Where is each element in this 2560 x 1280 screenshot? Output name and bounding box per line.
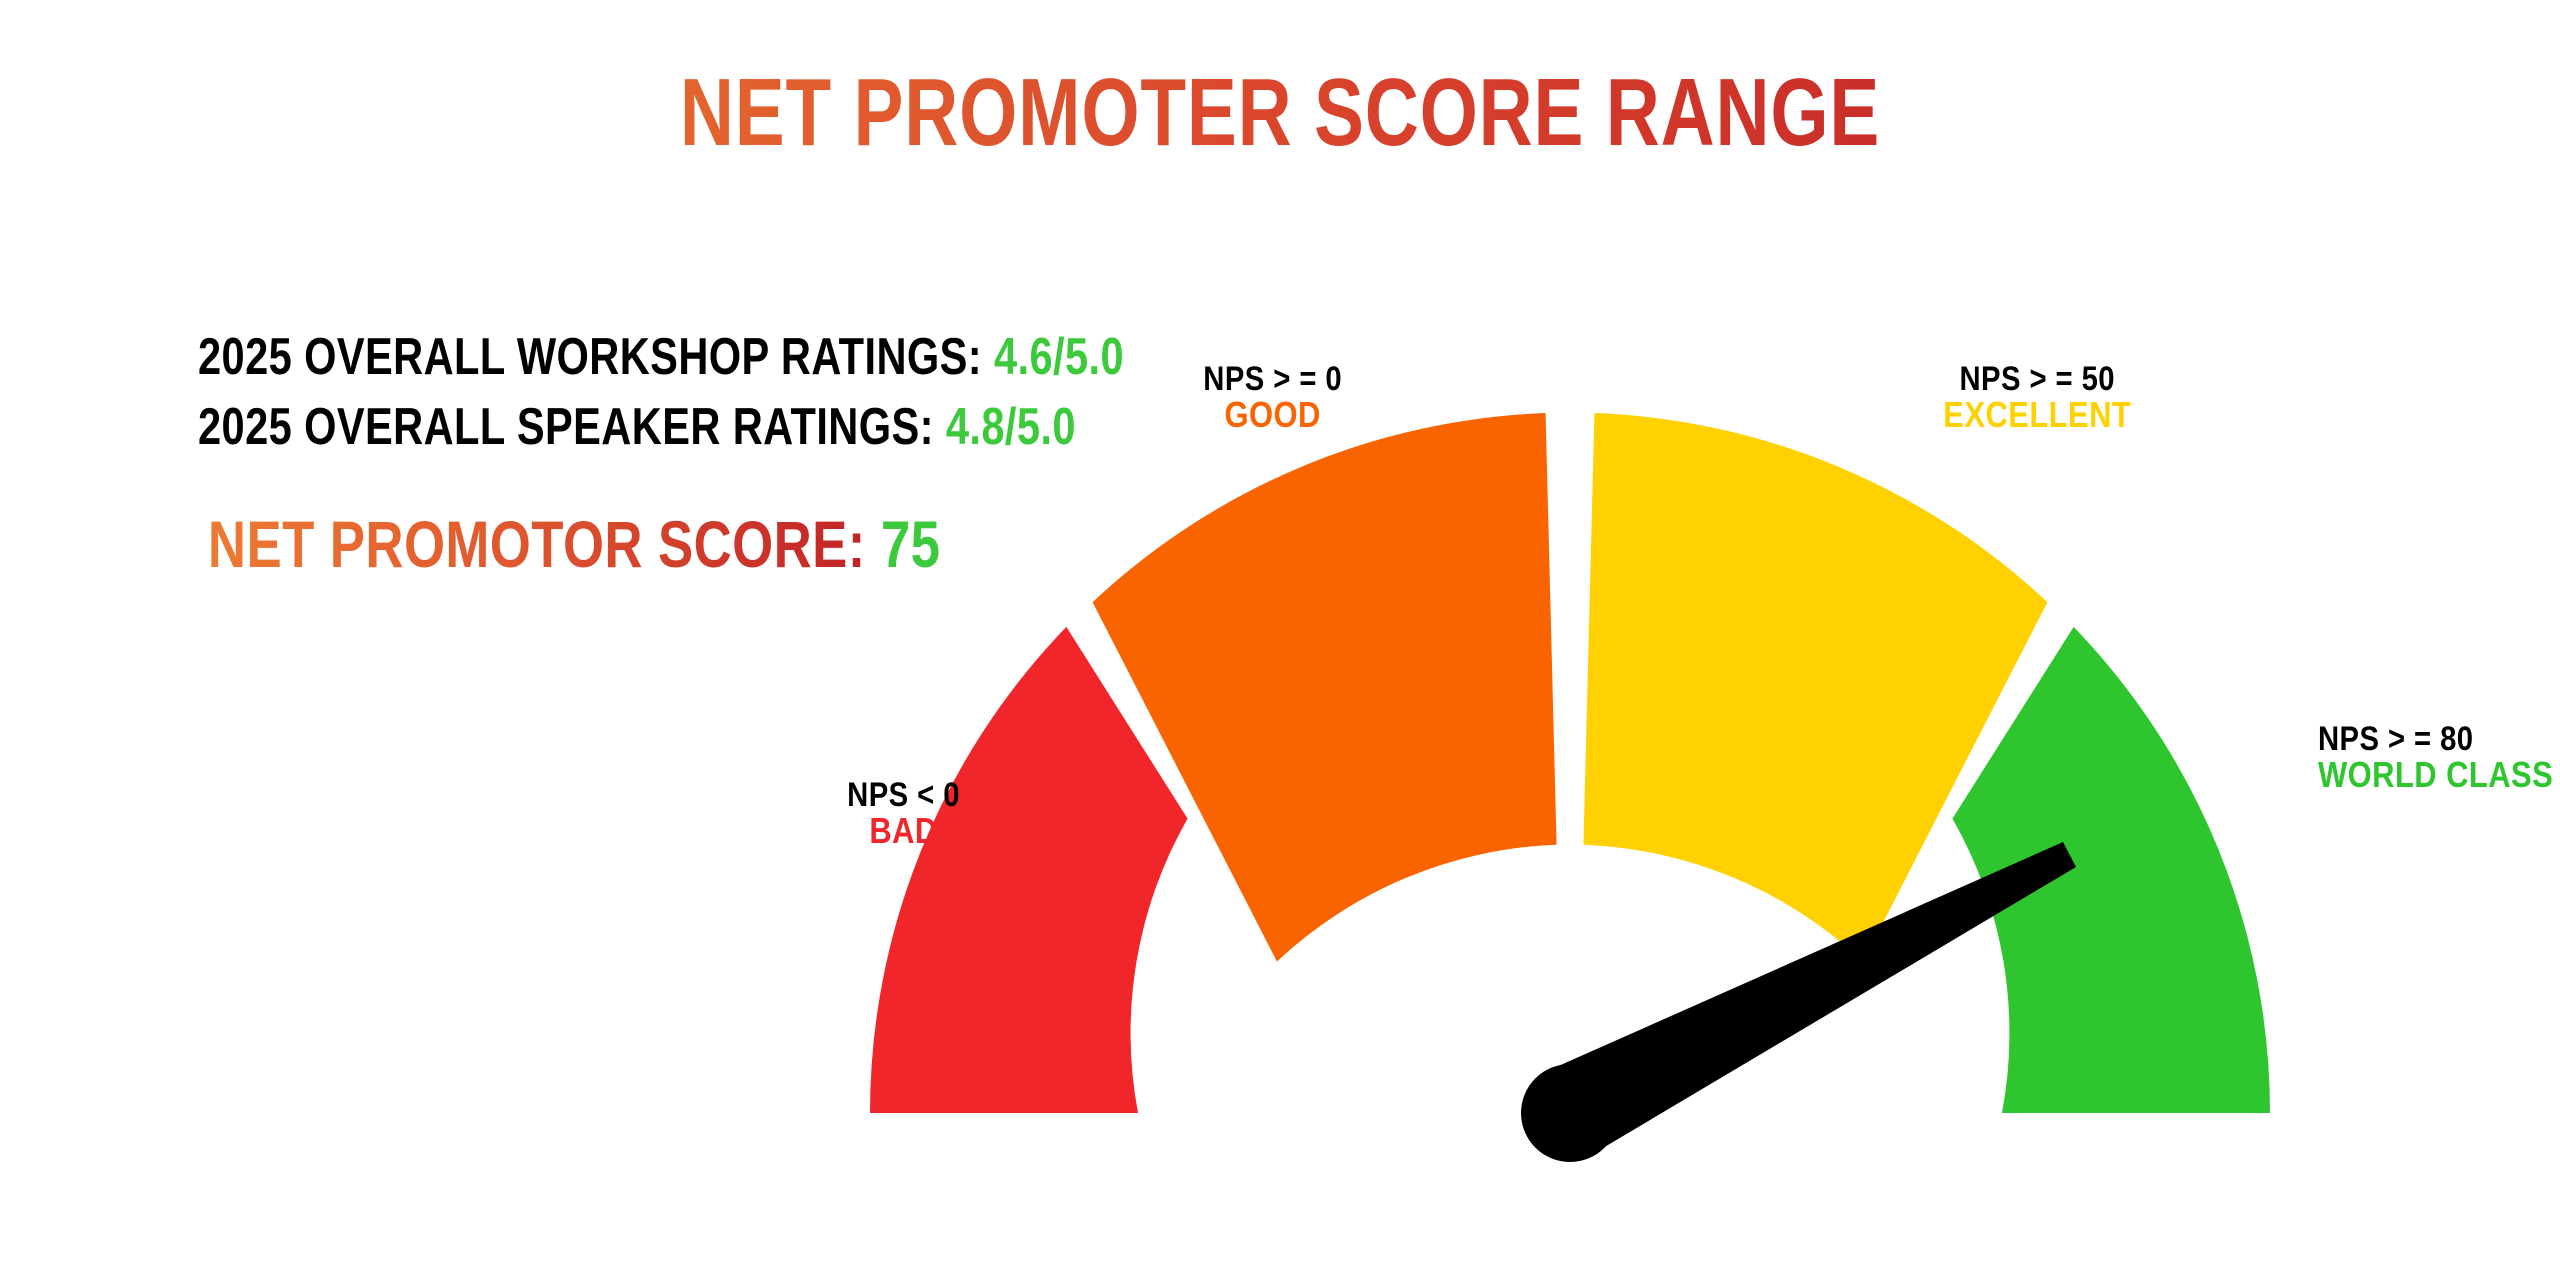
- gauge-label-good-name: GOOD: [1203, 397, 1342, 434]
- gauge-label-world-class-name: WORLD CLASS: [2318, 757, 2553, 794]
- nps-gauge-infographic: NET PROMOTER SCORE RANGE 2025 OVERALL WO…: [0, 0, 2560, 1280]
- gauge-segment-good: [1093, 413, 1557, 961]
- gauge-label-world-class-condition: NPS > = 80: [2318, 722, 2553, 757]
- gauge-segment-world-class: [1952, 627, 2270, 1113]
- gauge-label-excellent: NPS > = 50 EXCELLENT: [1928, 362, 2147, 433]
- gauge-label-world-class: NPS > = 80 WORLD CLASS: [2318, 722, 2560, 793]
- gauge-chart: [820, 370, 2380, 1170]
- gauge-needle-pivot: [1521, 1064, 1619, 1162]
- gauge-arc-group: [870, 413, 2270, 1113]
- gauge-label-bad-condition: NPS < 0: [847, 778, 960, 813]
- gauge-label-excellent-condition: NPS > = 50: [1943, 362, 2131, 397]
- gauge-label-excellent-name: EXCELLENT: [1943, 397, 2131, 434]
- gauge-segment-excellent: [1583, 413, 2047, 961]
- gauge-label-bad: NPS < 0 BAD: [838, 778, 969, 849]
- page-title: NET PROMOTER SCORE RANGE: [282, 58, 2279, 168]
- gauge-segment-bad: [870, 627, 1188, 1113]
- gauge-label-bad-name: BAD: [847, 813, 960, 850]
- stat-nps-label: NET PROMOTOR SCORE:: [208, 507, 866, 581]
- gauge-label-good: NPS > = 0 GOOD: [1192, 362, 1353, 433]
- gauge-label-good-condition: NPS > = 0: [1203, 362, 1342, 397]
